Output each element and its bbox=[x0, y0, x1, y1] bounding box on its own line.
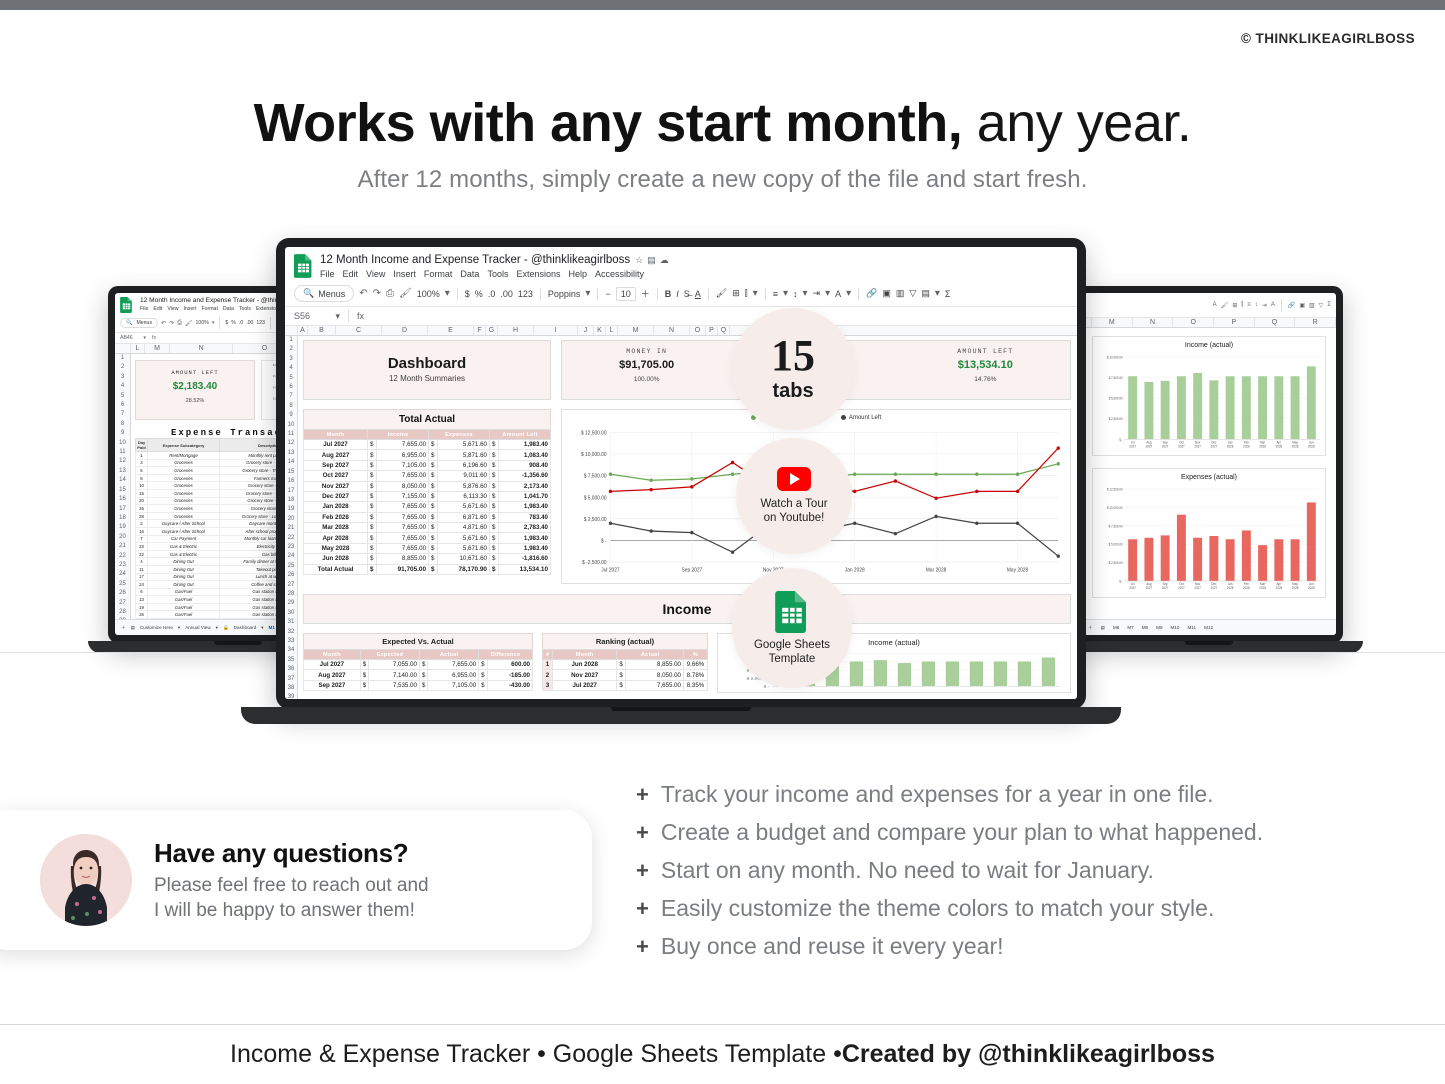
cell-actual-currency: $ bbox=[617, 680, 625, 690]
footer-bar: Income & Expense Tracker • Google Sheets… bbox=[0, 1024, 1445, 1084]
cell-expenses-currency: $ bbox=[429, 450, 438, 460]
row-header-18[interactable]: 18 bbox=[115, 514, 130, 523]
decrease-decimal-icon[interactable]: .0 bbox=[239, 320, 243, 326]
row-header-7[interactable]: 7 bbox=[115, 410, 130, 419]
badge-tabs-number: 15 bbox=[771, 336, 815, 376]
col-C[interactable]: C bbox=[336, 326, 382, 335]
cell-day-paid: 1 bbox=[136, 452, 148, 460]
table-row: 2 Nov 2027 $8,050.00 8.78% bbox=[543, 670, 708, 680]
row-header-24[interactable]: 24 bbox=[285, 552, 297, 561]
cell-amount-left: 1,041.70 bbox=[498, 491, 550, 501]
row-header-21[interactable]: 21 bbox=[285, 524, 297, 533]
currency-format-icon[interactable]: $ bbox=[465, 289, 470, 299]
cell-day-paid: 2 bbox=[136, 520, 148, 528]
table-row: Dec 2027 $7,155.00 $6,113.30 $1,041.70 bbox=[304, 491, 551, 501]
table-row: Jul 2027 $7,055.00 $7,655.00 $600.00 bbox=[304, 660, 533, 670]
more-formats-icon[interactable]: 123 bbox=[518, 289, 533, 299]
chevron-down-icon[interactable]: ▾ bbox=[825, 288, 830, 299]
cell-actual-currency: $ bbox=[617, 670, 625, 680]
feature-item-5: + Buy once and reuse it every year! bbox=[636, 932, 1436, 960]
row-header-10[interactable]: 10 bbox=[115, 439, 130, 448]
cell-day-paid: 25 bbox=[136, 505, 148, 513]
row-header-8[interactable]: 8 bbox=[285, 402, 297, 411]
cell-day-paid: 15 bbox=[136, 489, 148, 497]
row-header-12[interactable]: 12 bbox=[115, 457, 130, 466]
row-header-19[interactable]: 19 bbox=[115, 523, 130, 532]
col-I[interactable]: I bbox=[534, 326, 578, 335]
menu-file-main[interactable]: File bbox=[320, 269, 335, 279]
cell-income: 7,655.00 bbox=[376, 502, 428, 512]
star-icon[interactable]: ☆ bbox=[635, 255, 643, 266]
badge-watch-tour[interactable]: Watch a Touron Youtube! bbox=[736, 438, 852, 554]
font-size-input-main[interactable]: 10 bbox=[616, 287, 636, 301]
row-header-12[interactable]: 12 bbox=[285, 439, 297, 448]
row-header-3[interactable]: 3 bbox=[285, 355, 297, 364]
menu-format-main[interactable]: Format bbox=[424, 269, 453, 279]
row-header-4[interactable]: 4 bbox=[285, 364, 297, 373]
filter-icon[interactable]: ▽ bbox=[909, 288, 916, 299]
row-header-27[interactable]: 27 bbox=[115, 599, 130, 608]
row-header-32[interactable]: 32 bbox=[285, 628, 297, 637]
row-header-20[interactable]: 20 bbox=[115, 533, 130, 542]
cell-day-paid: 4 bbox=[136, 558, 148, 566]
th-eva-month: Month bbox=[304, 650, 361, 660]
chevron-down-icon[interactable]: ▾ bbox=[935, 288, 940, 299]
col-K[interactable]: K bbox=[594, 326, 606, 335]
svg-text:Mar 2028: Mar 2028 bbox=[926, 567, 947, 573]
row-header-17[interactable]: 17 bbox=[115, 505, 130, 514]
cell-subcategory: Gas/Fuel bbox=[148, 603, 220, 611]
borders-icon[interactable]: ⊞ bbox=[732, 288, 740, 299]
row-header-3[interactable]: 3 bbox=[115, 373, 130, 382]
vertical-align-icon[interactable]: ↕ bbox=[793, 289, 798, 299]
doc-title-main[interactable]: 12 Month Income and Expense Tracker - @t… bbox=[320, 254, 630, 266]
sum-icon[interactable]: Σ bbox=[945, 289, 951, 299]
row-header-14[interactable]: 14 bbox=[115, 476, 130, 485]
chevron-down-icon[interactable]: ▾ bbox=[261, 625, 263, 631]
row-header-19[interactable]: 19 bbox=[285, 505, 297, 514]
col-L[interactable]: L bbox=[131, 344, 145, 353]
cell-expenses: 10,671.60 bbox=[437, 554, 489, 564]
menu-data[interactable]: Data bbox=[223, 306, 234, 312]
col-R[interactable]: R bbox=[1295, 318, 1336, 327]
dashboard-content: Dashboard 12 Month Summaries MONEY IN $9… bbox=[303, 340, 1071, 693]
name-box-main[interactable]: S56 bbox=[294, 311, 310, 322]
text-wrap-icon[interactable]: ⇥ bbox=[1262, 302, 1267, 309]
row-header-39[interactable]: 39 bbox=[285, 693, 297, 699]
col-P[interactable]: P bbox=[1214, 318, 1255, 327]
strikethrough-icon[interactable]: S̶ bbox=[684, 289, 690, 299]
menu-help-main[interactable]: Help bbox=[568, 269, 587, 279]
col-Q[interactable]: Q bbox=[718, 326, 730, 335]
all-sheets-icon[interactable]: ▤ bbox=[131, 625, 135, 631]
col-L[interactable]: L bbox=[606, 326, 618, 335]
headline-bold: Works with any start month, bbox=[254, 93, 963, 153]
divider bbox=[765, 288, 766, 300]
plus-icon: + bbox=[636, 936, 649, 958]
col-M[interactable]: M bbox=[145, 344, 170, 353]
cell-amount-left: -1,816.60 bbox=[498, 554, 550, 564]
menu-tools-main[interactable]: Tools bbox=[487, 269, 508, 279]
row-header-16[interactable]: 16 bbox=[285, 477, 297, 486]
merge-cells-icon[interactable]: ⫿ bbox=[745, 288, 748, 299]
income-section-banner: Income bbox=[303, 594, 1071, 624]
th-subcategory: Expense Subcategory bbox=[148, 439, 220, 452]
col-N[interactable]: N bbox=[1133, 318, 1174, 327]
functions-menu-icon[interactable]: ▤ bbox=[921, 288, 930, 299]
feature-text: Create a budget and compare your plan to… bbox=[661, 818, 1263, 846]
svg-text:Sep 2027: Sep 2027 bbox=[682, 567, 703, 573]
row-header-5[interactable]: 5 bbox=[115, 392, 130, 401]
filter-icon[interactable]: ▽ bbox=[1319, 302, 1324, 309]
amount-left-value: $2,183.40 bbox=[140, 381, 250, 392]
row-header-34[interactable]: 34 bbox=[285, 646, 297, 655]
col-N[interactable]: N bbox=[654, 326, 690, 335]
redo-icon[interactable]: ↷ bbox=[373, 288, 381, 299]
cell-amount-left: -1,356.60 bbox=[498, 471, 550, 481]
doc-title-icons-main: ☆ ▤ ☁ bbox=[635, 255, 669, 266]
row-header-4[interactable]: 4 bbox=[115, 382, 130, 391]
row-header-1[interactable]: 1 bbox=[115, 354, 130, 363]
questions-card: Have any questions? Please feel free to … bbox=[0, 810, 592, 950]
bar-9 bbox=[994, 661, 1007, 686]
row-header-21[interactable]: 21 bbox=[115, 542, 130, 551]
currency-format-icon[interactable]: $ bbox=[225, 320, 228, 326]
feature-item-1: + Track your income and expenses for a y… bbox=[636, 780, 1436, 808]
svg-text:$ 10,000.00: $ 10,000.00 bbox=[1107, 355, 1123, 359]
sheet-tab-m8[interactable]: M8 bbox=[1142, 625, 1148, 630]
menus-button-main[interactable]: 🔍Menus bbox=[294, 285, 354, 302]
divider bbox=[219, 317, 220, 329]
menu-view-main[interactable]: View bbox=[366, 269, 385, 279]
cell-expenses: 6,196.60 bbox=[437, 460, 489, 470]
increase-decimal-icon[interactable]: .00 bbox=[500, 289, 513, 299]
increase-decimal-icon[interactable]: .00 bbox=[246, 320, 253, 326]
row-header-15[interactable]: 15 bbox=[285, 468, 297, 477]
name-box-left[interactable]: AB46 bbox=[120, 335, 133, 341]
chevron-down-icon[interactable]: ▾ bbox=[753, 288, 758, 299]
col-E[interactable]: E bbox=[428, 326, 474, 335]
chevron-down-icon[interactable]: ▾ bbox=[783, 288, 788, 299]
cell-month: Sep 2027 bbox=[304, 460, 368, 470]
chevron-down-icon[interactable]: ▾ bbox=[585, 288, 590, 299]
col-Q[interactable]: Q bbox=[1255, 318, 1296, 327]
row-header-18[interactable]: 18 bbox=[285, 496, 297, 505]
row-header-25[interactable]: 25 bbox=[115, 580, 130, 589]
insert-chart-icon[interactable]: ▥ bbox=[896, 288, 905, 299]
add-sheet-icon[interactable]: ＋ bbox=[1088, 625, 1093, 631]
page-headline: Works with any start month, any year. bbox=[0, 93, 1445, 153]
sheet-tab-m9[interactable]: M9 bbox=[1156, 625, 1162, 630]
menu-extensions-main[interactable]: Extensions bbox=[516, 269, 560, 279]
svg-text:$ 5,000.00: $ 5,000.00 bbox=[584, 495, 607, 501]
sheet-tab-m10[interactable]: M10 bbox=[1171, 625, 1180, 630]
svg-text:2028: 2028 bbox=[1243, 586, 1250, 590]
col-M[interactable]: M bbox=[1092, 318, 1133, 327]
menu-edit-main[interactable]: Edit bbox=[343, 269, 359, 279]
sheet-tab-m6[interactable]: M6 bbox=[1113, 625, 1119, 630]
cell-expenses: 9,011.60 bbox=[437, 471, 489, 481]
chevron-down-icon[interactable]: ▾ bbox=[846, 288, 851, 299]
svg-text:$ 10,000.00: $ 10,000.00 bbox=[581, 452, 607, 458]
sheet-tab-m12[interactable]: M12 bbox=[1204, 625, 1213, 630]
cell-income: 7,655.00 bbox=[376, 512, 428, 522]
menus-button-left[interactable]: 🔍Menus bbox=[120, 318, 158, 328]
row-header-16[interactable]: 16 bbox=[115, 495, 130, 504]
bar-7 bbox=[1242, 530, 1251, 581]
insert-comment-icon[interactable]: ▣ bbox=[1299, 302, 1305, 309]
plus-icon: + bbox=[636, 822, 649, 844]
insert-link-icon[interactable]: 🔗 bbox=[866, 288, 877, 299]
row-header-26[interactable]: 26 bbox=[115, 589, 130, 598]
all-sheets-icon[interactable]: ▤ bbox=[1101, 625, 1105, 631]
chevron-down-icon[interactable]: ▾ bbox=[212, 320, 215, 326]
row-header-20[interactable]: 20 bbox=[285, 515, 297, 524]
col-G[interactable]: G bbox=[486, 326, 498, 335]
row-header-22[interactable]: 22 bbox=[115, 552, 130, 561]
col-O[interactable]: O bbox=[1173, 318, 1214, 327]
zoom-level-main[interactable]: 100% bbox=[417, 289, 440, 299]
row-header-25[interactable]: 25 bbox=[285, 562, 297, 571]
cell-day-paid: 10 bbox=[136, 482, 148, 490]
row-header-6[interactable]: 6 bbox=[115, 401, 130, 410]
row-header-28[interactable]: 28 bbox=[285, 590, 297, 599]
cell-diff-currency: $ bbox=[479, 660, 487, 670]
cell-left-currency: $ bbox=[489, 543, 498, 553]
row-gutter-left: 1234567891011121314151617181920212223242… bbox=[115, 354, 131, 624]
sheet-tab-customize-here[interactable]: Customize Here bbox=[140, 625, 173, 630]
cell-month: Feb 2028 bbox=[304, 512, 368, 522]
row-header-38[interactable]: 38 bbox=[285, 684, 297, 693]
row-header-13[interactable]: 13 bbox=[115, 467, 130, 476]
svg-text:2028: 2028 bbox=[1259, 444, 1266, 448]
row-header-10[interactable]: 10 bbox=[285, 421, 297, 430]
lock-icon: 🔒 bbox=[223, 625, 229, 631]
row-header-28[interactable]: 28 bbox=[115, 608, 130, 617]
cell-expected: 7,055.00 bbox=[369, 660, 420, 670]
row-header-9[interactable]: 9 bbox=[115, 429, 130, 438]
bar-2 bbox=[1161, 381, 1170, 440]
cell-actual-currency: $ bbox=[419, 670, 427, 680]
increase-font-size-icon[interactable]: ＋ bbox=[641, 287, 650, 300]
cell-day-paid: 22 bbox=[136, 550, 148, 558]
row-header-1[interactable]: 1 bbox=[285, 336, 297, 345]
col-M[interactable]: M bbox=[618, 326, 654, 335]
badge-sheets-caption: Google SheetsTemplate bbox=[754, 638, 830, 666]
row-header-8[interactable]: 8 bbox=[115, 420, 130, 429]
text-color-icon[interactable]: A bbox=[1213, 302, 1217, 308]
row-header-33[interactable]: 33 bbox=[285, 637, 297, 646]
svg-text:2027: 2027 bbox=[1211, 586, 1218, 590]
total-actual-card: Total Actual Month Income Expenses Amoun… bbox=[303, 409, 551, 584]
menu-view[interactable]: View bbox=[167, 306, 178, 312]
row-header-37[interactable]: 37 bbox=[285, 675, 297, 684]
row-header-26[interactable]: 26 bbox=[285, 571, 297, 580]
add-sheet-icon[interactable]: ＋ bbox=[121, 625, 126, 631]
row-header-2[interactable]: 2 bbox=[115, 363, 130, 372]
undo-icon[interactable]: ↶ bbox=[359, 288, 367, 299]
th-eva-expected: Expected bbox=[360, 650, 419, 660]
row-header-29[interactable]: 29 bbox=[285, 599, 297, 608]
bar-6 bbox=[922, 661, 935, 686]
undo-icon[interactable]: ↶ bbox=[161, 320, 166, 327]
print-icon[interactable]: ⎙ bbox=[177, 320, 182, 327]
laptop-right-lid: A 🖌 ⊞ ⫿ ≡ ↕ ⇥ A 🔗 ▣ ▥ ▽ Σ M bbox=[1075, 286, 1343, 643]
column-headers-right: M N O P Q R bbox=[1082, 318, 1336, 328]
font-family-select-main[interactable]: Poppins bbox=[548, 289, 581, 299]
menu-tools[interactable]: Tools bbox=[239, 306, 251, 312]
cell-total-income-currency: $ bbox=[368, 564, 377, 574]
row-header-22[interactable]: 22 bbox=[285, 534, 297, 543]
total-actual-table: Month Income Expenses Amount Left Jul 20… bbox=[303, 429, 551, 575]
row-header-31[interactable]: 31 bbox=[285, 618, 297, 627]
paint-format-icon[interactable]: 🖌 bbox=[185, 320, 193, 327]
row-header-36[interactable]: 36 bbox=[285, 665, 297, 674]
chevron-down-icon[interactable]: ▾ bbox=[335, 311, 340, 322]
menu-accessibility-main[interactable]: Accessibility bbox=[595, 269, 644, 279]
cell-month: Nov 2027 bbox=[304, 481, 368, 491]
row-header-11[interactable]: 11 bbox=[115, 448, 130, 457]
col-D[interactable]: D bbox=[382, 326, 428, 335]
row-header-7[interactable]: 7 bbox=[285, 392, 297, 401]
col-N[interactable]: N bbox=[170, 344, 233, 353]
cell-income-currency: $ bbox=[368, 533, 377, 543]
horizontal-align-icon[interactable]: ≡ bbox=[1247, 302, 1251, 308]
borders-icon[interactable]: ⊞ bbox=[1232, 302, 1237, 309]
row-header-27[interactable]: 27 bbox=[285, 581, 297, 590]
cell-expenses-currency: $ bbox=[429, 440, 438, 450]
row-header-6[interactable]: 6 bbox=[285, 383, 297, 392]
svg-text:2028: 2028 bbox=[1308, 444, 1315, 448]
row-header-11[interactable]: 11 bbox=[285, 430, 297, 439]
chevron-down-icon[interactable]: ▾ bbox=[445, 288, 450, 299]
menu-edit[interactable]: Edit bbox=[153, 306, 162, 312]
row-header-5[interactable]: 5 bbox=[285, 374, 297, 383]
cell-left-currency: $ bbox=[489, 533, 498, 543]
menu-insert-main[interactable]: Insert bbox=[393, 269, 416, 279]
row-header-13[interactable]: 13 bbox=[285, 449, 297, 458]
row-header-9[interactable]: 9 bbox=[285, 411, 297, 420]
col-H[interactable]: H bbox=[498, 326, 534, 335]
row-header-23[interactable]: 23 bbox=[115, 561, 130, 570]
laptop-main-lid: 12 Month Income and Expense Tracker - @t… bbox=[276, 238, 1086, 709]
svg-text:$ 12,500.00: $ 12,500.00 bbox=[1107, 487, 1123, 491]
col-B[interactable]: B bbox=[308, 326, 336, 335]
row-header-15[interactable]: 15 bbox=[115, 486, 130, 495]
income-actual-chart-card: Income (actual) $ 10,000.00$ 7,500.00$ 5… bbox=[1092, 336, 1326, 456]
menu-data-main[interactable]: Data bbox=[460, 269, 479, 279]
bar-5 bbox=[1209, 380, 1218, 439]
youtube-icon bbox=[777, 467, 811, 491]
percent-format-icon[interactable]: % bbox=[475, 289, 483, 299]
table-row: Nov 2027 $8,050.00 $5,876.60 $2,173.40 bbox=[304, 481, 551, 491]
menu-file[interactable]: File bbox=[140, 306, 148, 312]
amount-left-label: AMOUNT LEFT bbox=[140, 369, 250, 376]
merge-cells-icon[interactable]: ⫿ bbox=[1241, 302, 1243, 309]
more-formats-icon[interactable]: 123 bbox=[256, 320, 265, 326]
col-P[interactable]: P bbox=[706, 326, 718, 335]
cell-day-paid: 13 bbox=[136, 596, 148, 604]
table-row: Feb 2028 $7,655.00 $6,871.60 $783.40 bbox=[304, 512, 551, 522]
row-header-24[interactable]: 24 bbox=[115, 570, 130, 579]
amount-left-card: AMOUNT LEFT $2,183.40 28.52% bbox=[135, 360, 255, 420]
horizontal-align-icon[interactable]: ≡ bbox=[773, 289, 778, 299]
bar-8 bbox=[970, 661, 983, 686]
cell-expenses: 5,671.60 bbox=[437, 533, 489, 543]
bar-10 bbox=[1291, 376, 1300, 439]
sheet-tab-dashboard[interactable]: Dashboard bbox=[234, 625, 256, 630]
svg-text:$ 5,000.00: $ 5,000.00 bbox=[1109, 543, 1123, 547]
menu-insert[interactable]: Insert bbox=[183, 306, 196, 312]
badge-youtube-caption: Watch a Touron Youtube! bbox=[760, 497, 827, 525]
sheet-tab-m7[interactable]: M7 bbox=[1127, 625, 1133, 630]
text-wrap-icon[interactable]: ⇥ bbox=[813, 288, 821, 299]
cell-actual: 7,105.00 bbox=[428, 680, 479, 690]
italic-icon[interactable]: I bbox=[676, 289, 679, 299]
text-rotation-icon[interactable]: A bbox=[835, 289, 841, 299]
cell-actual: 8,050.00 bbox=[625, 670, 683, 680]
functions-icon[interactable]: Σ bbox=[1327, 302, 1331, 308]
vertical-align-icon[interactable]: ↕ bbox=[1255, 302, 1258, 308]
row-header-35[interactable]: 35 bbox=[285, 656, 297, 665]
chevron-down-icon[interactable]: ▾ bbox=[802, 288, 807, 299]
row-header-30[interactable]: 30 bbox=[285, 609, 297, 618]
col-J[interactable]: J bbox=[578, 326, 594, 335]
row-header-2[interactable]: 2 bbox=[285, 345, 297, 354]
text-color-icon[interactable]: A bbox=[695, 289, 701, 299]
headline-light: any year. bbox=[962, 93, 1191, 153]
zoom-level-left[interactable]: 100% bbox=[196, 320, 209, 326]
move-folder-icon[interactable]: ▤ bbox=[647, 255, 656, 266]
insert-chart-icon[interactable]: ▥ bbox=[1309, 302, 1315, 309]
cell-day-paid: 6 bbox=[136, 588, 148, 596]
sheet-tab-annual-view[interactable]: Annual View bbox=[185, 625, 210, 630]
percent-format-icon[interactable]: % bbox=[231, 320, 236, 326]
cell-month: Jun 2028 bbox=[304, 554, 368, 564]
sheet-tab-m1[interactable]: M1 bbox=[269, 625, 275, 630]
row-header-17[interactable]: 17 bbox=[285, 487, 297, 496]
col-A[interactable]: A bbox=[298, 326, 308, 335]
insert-comment-icon[interactable]: ▣ bbox=[882, 288, 891, 299]
chevron-down-icon[interactable]: ▾ bbox=[216, 625, 218, 631]
redo-icon[interactable]: ↷ bbox=[169, 320, 174, 327]
search-icon: 🔍 bbox=[303, 288, 314, 299]
chevron-down-icon[interactable]: ▾ bbox=[178, 625, 180, 631]
row-header-23[interactable]: 23 bbox=[285, 543, 297, 552]
menus-label: Menus bbox=[136, 320, 152, 326]
text-rotation-icon[interactable]: A bbox=[1271, 302, 1275, 308]
decrease-font-size-icon[interactable]: − bbox=[605, 289, 610, 299]
cell-subcategory: Daycare / After School bbox=[148, 520, 220, 528]
insert-link-icon[interactable]: 🔗 bbox=[1288, 302, 1295, 309]
print-icon[interactable]: ⎙ bbox=[386, 288, 394, 299]
col-O[interactable]: O bbox=[690, 326, 706, 335]
decrease-decimal-icon[interactable]: .0 bbox=[488, 289, 496, 299]
bold-icon[interactable]: B bbox=[665, 289, 672, 299]
fill-color-icon[interactable]: 🖌 bbox=[1221, 302, 1229, 309]
sheet-tab-m11[interactable]: M11 bbox=[1187, 625, 1196, 630]
kpi-amount-left-label: AMOUNT LEFT bbox=[901, 348, 1070, 355]
paint-format-icon[interactable]: 🖌 bbox=[399, 288, 412, 299]
row-header-14[interactable]: 14 bbox=[285, 458, 297, 467]
col-corner bbox=[115, 344, 131, 353]
col-F[interactable]: F bbox=[474, 326, 486, 335]
chevron-down-icon[interactable]: ▾ bbox=[143, 335, 146, 341]
menu-format[interactable]: Format bbox=[201, 306, 217, 312]
bar-8 bbox=[1258, 545, 1267, 581]
fill-color-icon[interactable]: 🖌 bbox=[716, 288, 727, 299]
svg-text:$ 7,500.00: $ 7,500.00 bbox=[584, 473, 607, 479]
